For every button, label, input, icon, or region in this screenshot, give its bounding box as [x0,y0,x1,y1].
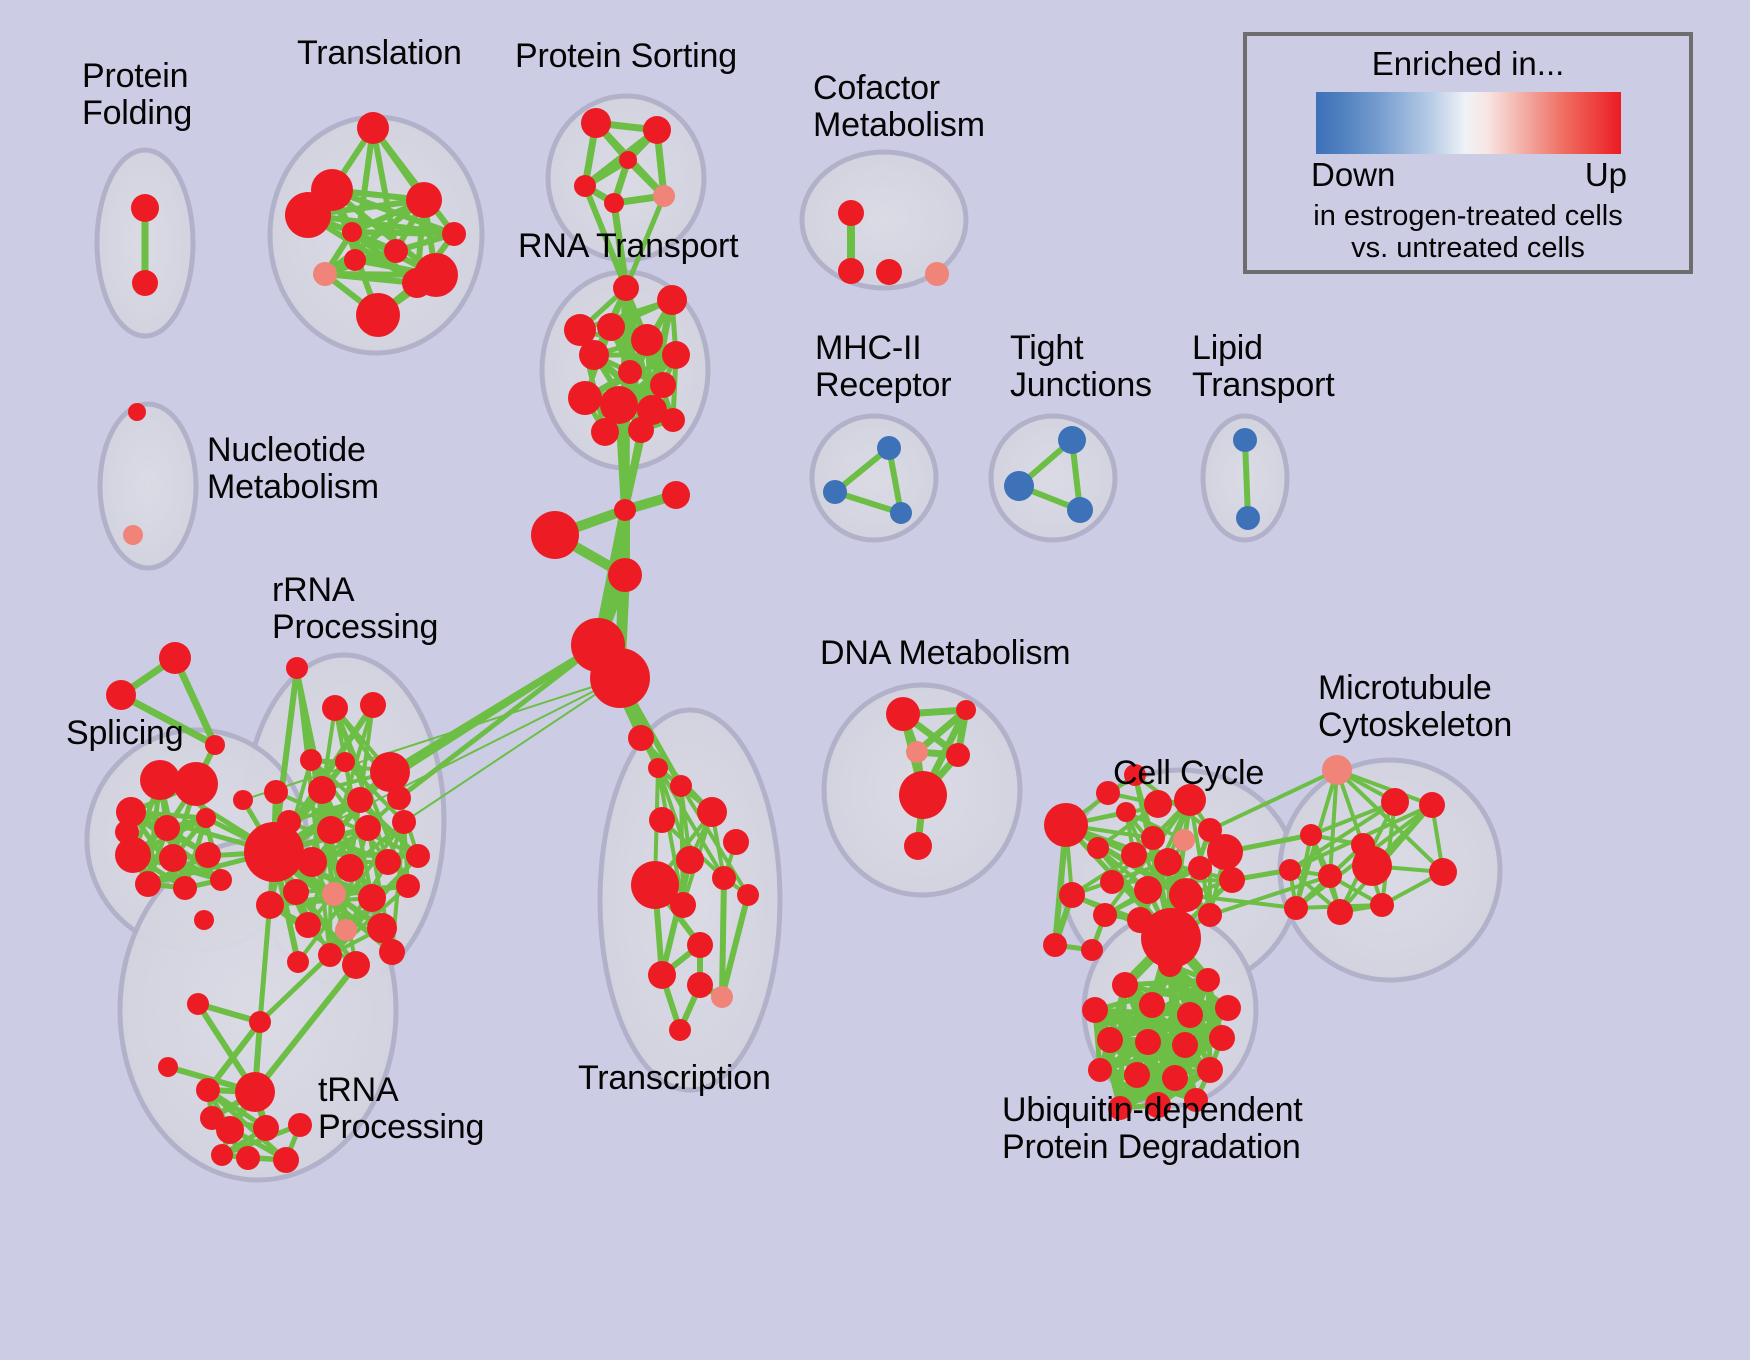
cluster-halo-mhcii-receptor [812,416,936,540]
network-node [414,253,458,297]
network-node [687,972,713,998]
network-node [355,815,381,841]
network-node [1088,1058,1112,1082]
network-node [1162,1065,1188,1091]
network-node [661,408,685,432]
network-node [823,480,847,504]
network-node [210,869,232,891]
legend-subtitle-line-1: in estrogen-treated cells [1247,200,1689,232]
network-node [367,913,397,943]
network-node [313,262,337,286]
network-node [273,1147,299,1173]
network-node [657,285,687,315]
network-node [925,262,949,286]
network-node [1096,781,1120,805]
network-node [106,680,136,710]
network-node [591,418,619,446]
network-node [236,1146,260,1170]
network-node [608,558,642,592]
legend-up-label: Up [1585,156,1627,194]
network-node [1059,882,1085,908]
network-node [335,752,355,772]
network-node [196,1078,220,1102]
network-node [1327,899,1353,925]
network-node [1169,878,1203,912]
network-node [154,815,180,841]
network-node [1196,968,1220,992]
network-node [1173,829,1195,851]
network-node [711,986,733,1008]
network-node [1381,788,1409,816]
network-node [1121,842,1147,868]
network-node [877,436,901,460]
network-node [211,1144,233,1166]
network-node [653,185,675,207]
network-node [1081,939,1103,961]
network-node [158,1057,178,1077]
legend-down-label: Down [1311,156,1395,194]
network-node [1097,1027,1123,1053]
network-node [135,871,161,897]
network-node [876,259,902,285]
network-node [648,961,676,989]
network-node [1352,846,1392,886]
network-node [1284,896,1308,920]
network-node [669,1019,691,1041]
network-node [264,780,288,804]
network-node [256,891,284,919]
network-node [1177,1002,1203,1028]
network-node [838,200,864,226]
network-node [1124,1062,1150,1088]
network-node [590,648,650,708]
network-node [886,697,920,731]
network-node [322,695,348,721]
network-node [1219,867,1245,893]
network-node [1087,837,1109,859]
network-node [956,700,976,720]
legend-panel: Enriched in... Down Up in estrogen-treat… [1243,32,1693,274]
network-node [614,499,636,521]
network-node [370,752,410,792]
network-node [1112,972,1138,998]
network-node [322,882,346,906]
network-node [1198,903,1222,927]
network-node [360,692,386,718]
network-node [375,849,401,875]
network-node [597,313,625,341]
network-node [1300,824,1322,846]
network-node [379,939,405,965]
network-node [631,324,663,356]
network-node [244,822,304,882]
network-node [670,892,696,918]
network-node [1144,790,1172,818]
network-node [406,182,442,218]
network-node [406,844,430,868]
network-node [1322,755,1352,785]
network-node [1154,848,1182,876]
cluster-halo-nucleotide-metab [100,404,196,568]
network-node [904,832,932,860]
network-node [1209,1025,1235,1051]
network-node [342,222,362,242]
network-node [687,932,713,958]
network-node [347,787,373,813]
network-edge [390,645,598,772]
network-node [253,1115,279,1141]
legend-endpoints: Down Up [1247,156,1689,200]
network-node [194,910,214,930]
network-node [442,222,466,246]
network-node [1370,893,1394,917]
network-node [568,381,602,415]
network-node [1236,506,1260,530]
network-node [1215,995,1241,1021]
network-node [358,884,386,912]
network-node [1134,876,1162,904]
legend-subtitle-line-2: vs. untreated cells [1247,232,1689,264]
network-node [1135,1029,1161,1055]
legend-color-gradient-bar [1316,92,1621,154]
network-node [249,1011,271,1033]
network-node [335,919,357,941]
network-node [1145,1092,1171,1118]
network-node [662,481,690,509]
network-node [737,884,759,906]
network-node [1044,803,1088,847]
network-node [890,502,912,524]
network-node [356,293,400,337]
network-node [574,175,596,197]
network-node [392,810,416,834]
network-node [1141,826,1165,850]
network-node [287,951,309,973]
network-node [115,820,139,844]
network-node [723,829,749,855]
network-node [712,866,736,890]
network-node [115,837,151,873]
network-node [899,771,947,819]
network-node [906,741,928,763]
network-node [662,341,690,369]
network-node [1279,859,1301,881]
network-node [384,239,408,263]
network-node [1043,933,1067,957]
network-node [649,807,675,833]
network-node [619,151,637,169]
network-node [286,657,308,679]
network-node [1429,858,1457,886]
network-node [1004,471,1034,501]
network-node [283,879,309,905]
network-node [174,762,218,806]
network-node [604,193,624,213]
network-node [946,743,970,767]
network-node [235,1072,275,1112]
network-node [342,951,370,979]
network-node [195,842,221,868]
network-node [618,360,642,384]
network-node [1174,784,1206,816]
network-node [128,403,146,421]
network-node [1233,428,1257,452]
network-node [1318,864,1342,888]
network-node [187,993,209,1015]
network-node [132,270,158,296]
network-node [1082,997,1108,1023]
network-node [173,876,197,900]
network-node [676,846,704,874]
network-node [123,525,143,545]
network-node [205,735,225,755]
network-node [1207,834,1243,870]
network-node [579,340,609,370]
network-node [1100,870,1124,894]
network-node [131,194,159,222]
network-node [1093,903,1117,927]
network-node [317,816,345,844]
network-node [159,844,187,872]
network-edge [352,232,454,234]
network-node [670,775,692,797]
network-node [1158,953,1182,977]
network-node [285,192,331,238]
network-node [1139,992,1165,1018]
legend-title: Enriched in... [1247,45,1689,83]
network-node [628,417,654,443]
network-node [357,112,389,144]
network-node [295,912,321,938]
network-node [159,642,191,674]
enrichment-map-figure: Protein FoldingTranslationProtein Sortin… [0,0,1750,1360]
network-node [1124,764,1146,786]
network-node [628,725,654,751]
network-node [1108,1096,1132,1120]
network-node [1067,497,1093,523]
network-node [336,854,364,882]
network-node [140,760,180,800]
network-node [196,808,216,828]
network-node [396,874,420,898]
network-node [648,758,668,778]
network-node [1116,802,1136,822]
network-node [838,258,864,284]
cluster-halo-protein-sorting [548,96,704,260]
network-node [1184,1088,1208,1112]
network-node [697,797,727,827]
network-node [1058,426,1086,454]
network-node [1172,1032,1198,1058]
network-node [1419,792,1445,818]
network-node [300,749,322,771]
network-node [613,275,639,301]
network-node [581,108,611,138]
network-node [318,943,342,967]
network-edge [1112,880,1232,882]
network-node [288,1113,312,1137]
network-node [344,249,366,271]
network-node [387,786,411,810]
network-node [308,776,336,804]
network-node [1197,1057,1223,1083]
network-node [531,511,579,559]
network-node [233,790,253,810]
network-node [650,372,676,398]
network-node [200,1106,224,1130]
network-node [643,116,671,144]
network-node [1188,856,1212,880]
